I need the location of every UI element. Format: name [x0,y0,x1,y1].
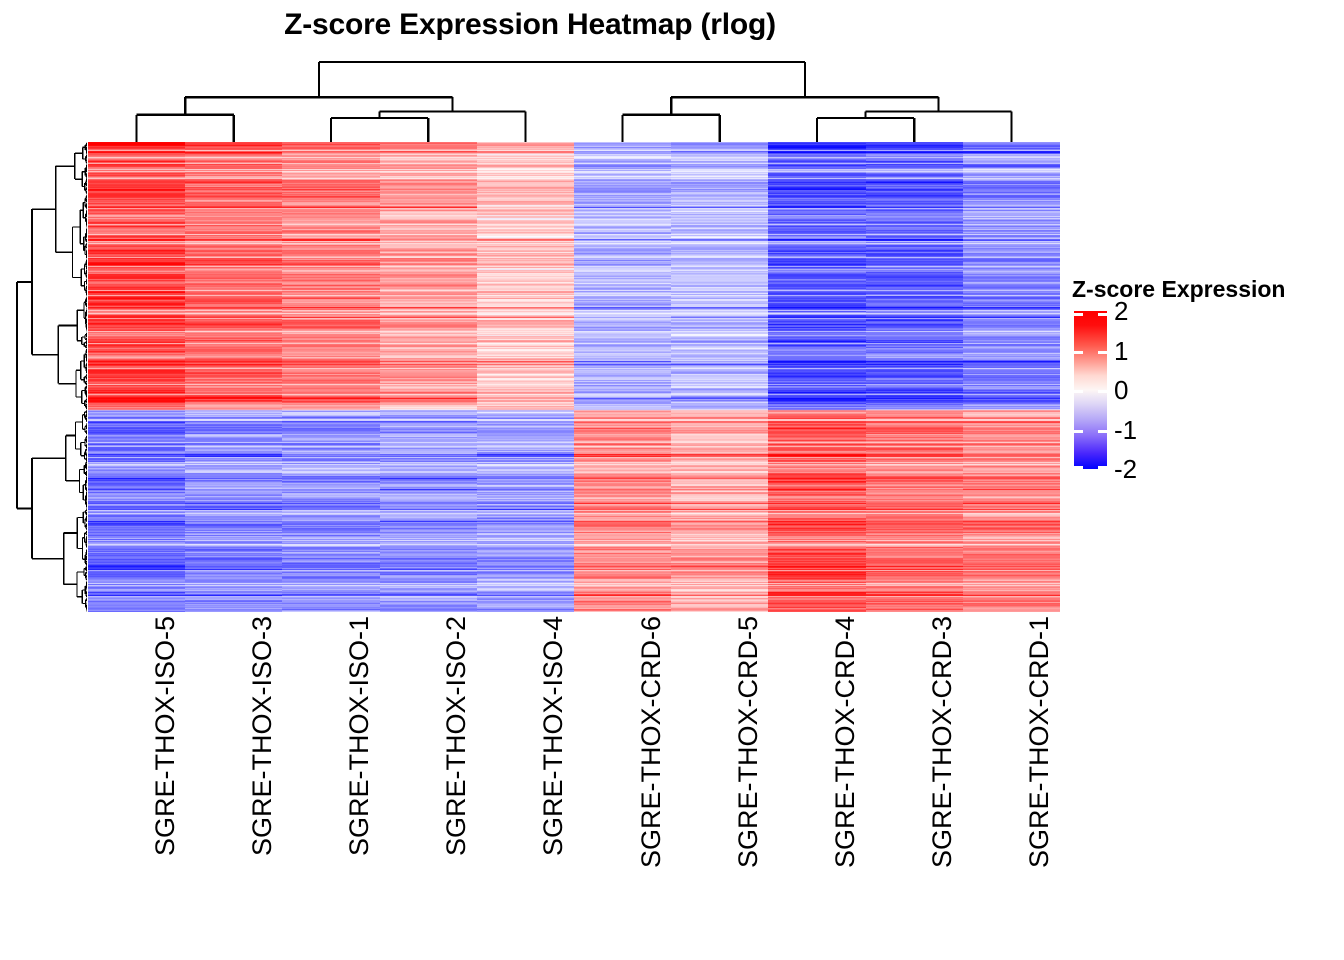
row-dendrogram [14,142,87,612]
column-label-text: SGRE-THOX-CRD-3 [927,616,958,868]
heatmap-column [866,142,963,612]
column-label-text: SGRE-THOX-ISO-5 [150,616,181,856]
heatmap-column [380,142,477,612]
column-label-3: SGRE-THOX-ISO-1 [282,616,379,936]
column-label-text: SGRE-THOX-CRD-5 [733,616,764,868]
heatmap-column [282,142,379,612]
colorbar-tick-label: -2 [1114,456,1137,482]
colorbar-tick-mark [1098,313,1107,316]
colorbar-tick-mark [1074,351,1083,354]
colorbar-tick-mark [1074,313,1083,316]
colorbar-tick-mark [1074,466,1083,469]
heatmap-column [477,142,574,612]
colorbar-tick-label: 0 [1114,377,1128,403]
column-labels: SGRE-THOX-ISO-5SGRE-THOX-ISO-3SGRE-THOX-… [88,616,1060,936]
column-label-text: SGRE-THOX-ISO-2 [441,616,472,856]
heatmap-column [574,142,671,612]
colorbar-tick-mark [1074,390,1083,393]
column-label-9: SGRE-THOX-CRD-3 [866,616,963,936]
column-label-text: SGRE-THOX-CRD-6 [636,616,667,868]
colorbar-tick-mark [1098,466,1107,469]
colorbar-tick-mark [1098,390,1107,393]
legend-title: Z-score Expression [1072,276,1332,303]
column-label-text: SGRE-THOX-ISO-4 [538,616,569,856]
column-label-text: SGRE-THOX-ISO-3 [247,616,278,856]
heatmap-column [185,142,282,612]
colorbar-tick-label: -1 [1114,417,1137,443]
colorbar-tick-label: 1 [1114,338,1128,364]
column-label-text: SGRE-THOX-ISO-1 [344,616,375,856]
column-label-10: SGRE-THOX-CRD-1 [963,616,1060,936]
column-label-4: SGRE-THOX-ISO-2 [380,616,477,936]
legend: Z-score Expression 210-1-2 [1072,276,1332,481]
colorbar-tick-mark [1098,430,1107,433]
column-label-7: SGRE-THOX-CRD-5 [671,616,768,936]
column-label-1: SGRE-THOX-ISO-5 [88,616,185,936]
heatmap-column [88,142,185,612]
colorbar-tick-mark [1098,351,1107,354]
heatmap-column [768,142,865,612]
heatmap-column [963,142,1060,612]
column-label-text: SGRE-THOX-CRD-1 [1024,616,1055,868]
heatmap-grid [88,142,1060,612]
column-label-5: SGRE-THOX-ISO-4 [477,616,574,936]
column-label-2: SGRE-THOX-ISO-3 [185,616,282,936]
legend-body: 210-1-2 [1072,311,1332,481]
column-dendrogram [88,58,1060,142]
heatmap-figure: Z-score Expression Heatmap (rlog) SGRE-T… [0,0,1344,960]
page-title: Z-score Expression Heatmap (rlog) [0,8,1060,42]
column-label-text: SGRE-THOX-CRD-4 [830,616,861,868]
heatmap-column [671,142,768,612]
column-label-6: SGRE-THOX-CRD-6 [574,616,671,936]
column-label-8: SGRE-THOX-CRD-4 [768,616,865,936]
colorbar-tick-label: 2 [1114,298,1128,324]
colorbar-tick-mark [1074,430,1083,433]
